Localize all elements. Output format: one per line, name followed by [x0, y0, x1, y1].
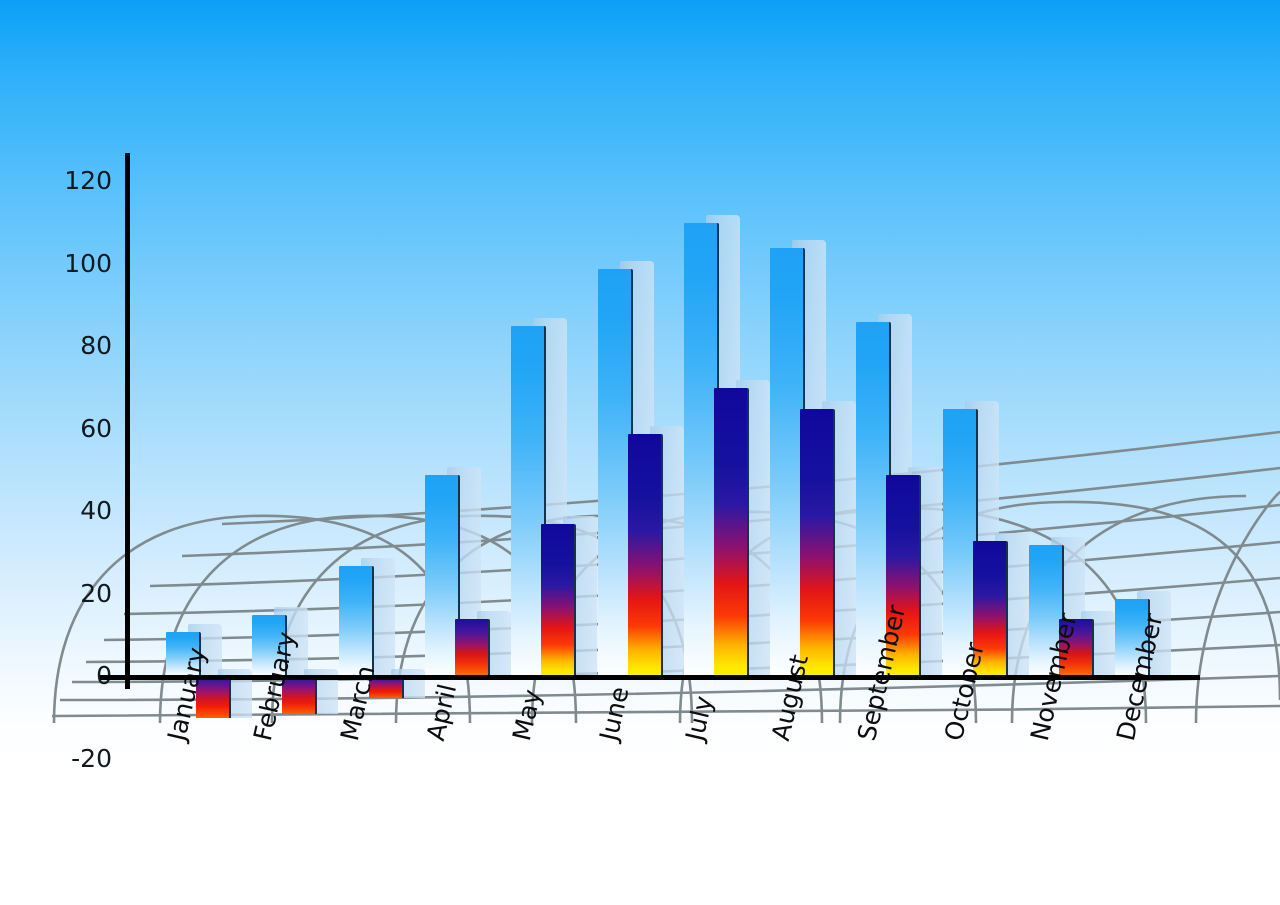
x-tick-label-april: April [421, 681, 462, 743]
y-tick-label: 80 [40, 331, 112, 360]
x-tick-label-may: May [507, 687, 547, 744]
y-tick-label: 120 [40, 166, 112, 195]
chart-canvas: 120100806040200-20JanuaryFebruaryMarchAp… [0, 0, 1280, 905]
y-tick-label: 60 [40, 414, 112, 443]
bar-series2-july[interactable] [714, 388, 749, 677]
bar-series2-may[interactable] [541, 524, 576, 677]
y-tick-label: 100 [40, 249, 112, 278]
bar-series2-june[interactable] [628, 434, 663, 677]
bar-series2-august[interactable] [800, 409, 835, 677]
x-axis-zero-line-overlay [100, 675, 1200, 680]
y-tick-label: 40 [40, 496, 112, 525]
x-tick-label-june: June [594, 684, 635, 744]
y-tick-label: -20 [40, 744, 112, 773]
plot-area: 120100806040200-20JanuaryFebruaryMarchAp… [0, 0, 1280, 905]
bar-series1-march[interactable] [339, 566, 374, 677]
y-tick-label: 20 [40, 579, 112, 608]
y-axis-line-overlay [125, 153, 130, 689]
bar-series2-april[interactable] [455, 619, 490, 677]
x-tick-label-july: July [680, 693, 718, 743]
